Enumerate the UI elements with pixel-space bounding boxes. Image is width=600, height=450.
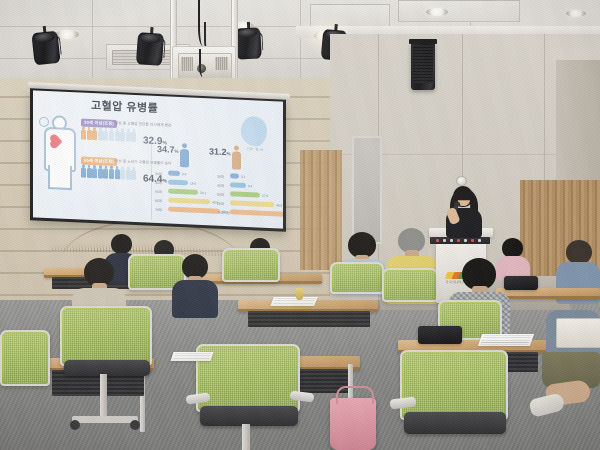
bar xyxy=(168,188,198,194)
bar-value: 9.4 xyxy=(248,184,252,188)
handout-paper xyxy=(270,297,318,306)
handout-paper xyxy=(171,352,214,361)
bar-label: 30대 xyxy=(217,174,224,179)
bar-group-male: 30대9.840대18.650대33.160대49.570대59.4 xyxy=(155,170,213,173)
pictogram-person-icon xyxy=(115,128,120,141)
bar-value: 3.1 xyxy=(241,175,245,179)
bar xyxy=(168,179,188,185)
chair-seat xyxy=(200,406,298,426)
bar-label: 70대이상 xyxy=(217,210,230,216)
pictogram-person-icon xyxy=(98,127,103,140)
side-door[interactable] xyxy=(352,136,382,244)
projection-screen: 고혈압 유병률 30세 이상(조정) 남성 중 고혈압 진단을 의사에게 받은 … xyxy=(33,90,283,228)
bar xyxy=(230,200,274,207)
bar-value: 33.1 xyxy=(200,191,206,195)
male-percent: 34.7% xyxy=(157,144,179,155)
bar xyxy=(168,170,180,176)
chair-seat xyxy=(64,360,150,376)
spotlight-icon xyxy=(235,27,262,59)
bar-value: 18.6 xyxy=(190,181,196,185)
downlight-icon xyxy=(566,10,586,17)
pictogram-person-icon xyxy=(92,127,97,140)
chair-base xyxy=(72,416,138,423)
pictogram-person-icon xyxy=(126,167,131,180)
lectern-control-panel[interactable] xyxy=(430,237,490,244)
projector-lift xyxy=(168,0,238,86)
photo-scene: 고혈압 유병률 30세 이상(조정) 남성 중 고혈압 진단을 의사에게 받은 … xyxy=(0,0,600,450)
loudspeaker-icon xyxy=(411,42,435,90)
pictogram-person-icon xyxy=(92,165,97,178)
pictogram-person-icon xyxy=(131,129,136,142)
bar-value: 48.9 xyxy=(276,203,282,207)
male-figure-icon xyxy=(180,143,189,167)
chair-seat xyxy=(404,412,506,434)
body-silhouette-with-heart-icon xyxy=(41,115,75,189)
classroom-chair xyxy=(222,248,280,282)
pictogram-person-icon xyxy=(87,165,92,178)
bar xyxy=(168,206,220,213)
pictogram-person-icon xyxy=(120,166,125,179)
pictogram-person-icon xyxy=(98,165,103,178)
pictogram-person-icon xyxy=(120,128,125,141)
bar-label: 70대 xyxy=(155,207,162,212)
blue-accent-shape xyxy=(241,116,267,147)
attendee-mid-left xyxy=(172,254,218,316)
bar xyxy=(168,197,210,204)
pictogram-person-icon xyxy=(126,129,131,142)
pictogram-person-icon xyxy=(87,127,92,140)
drink-cup xyxy=(296,288,303,300)
bar-value: 27.6 xyxy=(262,194,268,198)
wood-slat-wall-center xyxy=(300,150,342,270)
bar-label: 30대 xyxy=(155,171,162,176)
bar-label: 60대 xyxy=(155,198,162,203)
pictogram-person-icon xyxy=(109,166,114,179)
chair-post xyxy=(100,374,107,418)
classroom-chair[interactable] xyxy=(0,330,50,386)
spotlight-icon xyxy=(31,31,60,66)
female-figure-icon xyxy=(232,145,241,169)
chair-post xyxy=(242,424,250,450)
classroom-chair xyxy=(330,262,384,294)
chair-caster xyxy=(70,420,80,430)
bar xyxy=(230,191,260,197)
tote-bag xyxy=(330,398,376,450)
pictogram-person-icon xyxy=(103,128,108,141)
slide-title: 고혈압 유병률 xyxy=(91,97,158,116)
chair-caster xyxy=(130,420,140,430)
bar xyxy=(230,173,239,178)
bar-label: 50대 xyxy=(217,192,224,197)
bar-value: 9.8 xyxy=(182,172,186,176)
classroom-chair[interactable] xyxy=(60,306,152,366)
bar-label: 50대 xyxy=(155,189,162,194)
bar-label: 40대 xyxy=(155,180,162,185)
pictogram-person-icon xyxy=(131,167,136,180)
storage-box xyxy=(556,318,600,348)
pictogram-person-icon xyxy=(81,127,86,140)
desk-modesty-panel xyxy=(248,311,370,327)
presenter-speaking xyxy=(444,186,484,238)
handbag xyxy=(418,326,462,344)
classroom-chair[interactable] xyxy=(400,350,508,420)
wall-sensor-icon xyxy=(456,176,467,186)
pictogram-person-icon xyxy=(115,166,120,179)
sock xyxy=(528,392,565,418)
female-percent: 31.2% xyxy=(209,146,231,157)
bar xyxy=(230,209,283,216)
pictogram-person-icon xyxy=(81,165,86,178)
bar-group-female: 30대3.140대9.450대27.660대48.970대이상63.2 xyxy=(217,173,279,176)
slide-note: 단위 : 명, % xyxy=(247,146,263,152)
pictogram-person-icon xyxy=(103,166,108,179)
bar-label: 40대 xyxy=(217,183,224,188)
bar xyxy=(230,182,246,188)
downlight-icon xyxy=(426,8,448,16)
bar-label: 60대 xyxy=(217,201,224,206)
spotlight-icon xyxy=(136,32,164,66)
classroom-chair xyxy=(382,268,438,302)
pictogram-person-icon xyxy=(109,128,114,141)
